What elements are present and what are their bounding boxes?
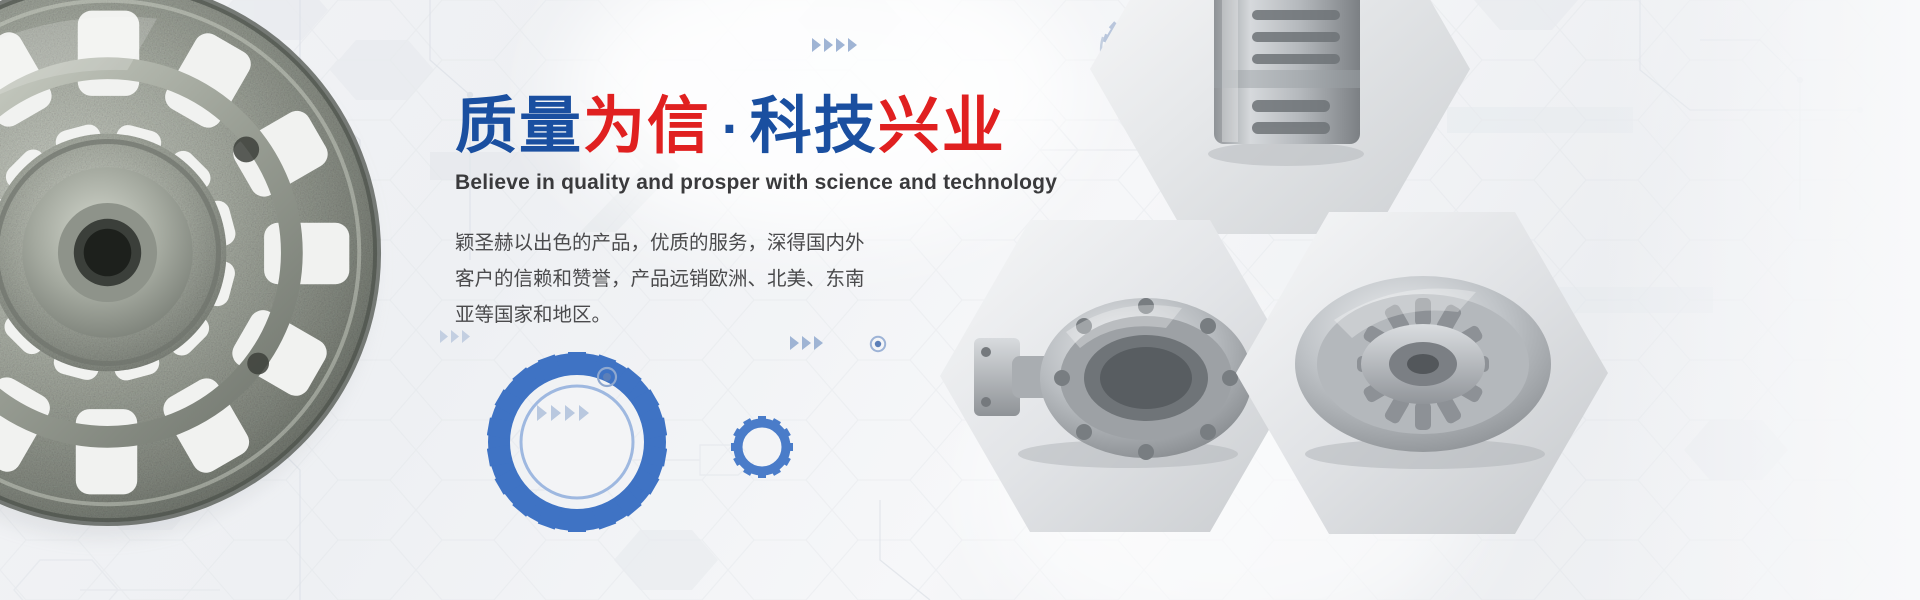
- edge-fade: [1600, 0, 1920, 600]
- banner-subtitle: Believe in quality and prosper with scie…: [455, 171, 1075, 195]
- headline-separator: ·: [711, 108, 750, 152]
- target-dot-icon: [596, 366, 618, 388]
- product-image: [1186, 0, 1386, 172]
- headline-part-1: 质量: [455, 95, 583, 157]
- headline-part-3: 科技: [750, 95, 878, 157]
- arrows-icon: [440, 330, 474, 343]
- arrows-icon: [812, 38, 862, 52]
- gear-icon: [487, 352, 667, 532]
- target-dot-icon: [869, 335, 891, 357]
- wheel-image: [0, 0, 385, 530]
- promo-banner: 质量为信·科技兴业 Believe in quality and prosper…: [0, 0, 1920, 600]
- banner-paragraph: 颖圣赫以出色的产品，优质的服务，深得国内外客户的信赖和赞誉，产品远销欧洲、北美、…: [455, 225, 870, 333]
- product-image: [1270, 264, 1576, 474]
- metal-casting-wheel-photo: [0, 0, 390, 600]
- page-title: 质量为信·科技兴业: [455, 95, 1075, 157]
- headline-part-4: 兴业: [878, 95, 1006, 157]
- gear-icon: [731, 416, 793, 478]
- cast-hub-housing-photo: [1236, 212, 1608, 600]
- arrows-icon: [790, 336, 834, 350]
- arrows-icon: [537, 405, 597, 421]
- headline-part-2: 为信: [583, 95, 711, 157]
- product-image: [968, 282, 1268, 472]
